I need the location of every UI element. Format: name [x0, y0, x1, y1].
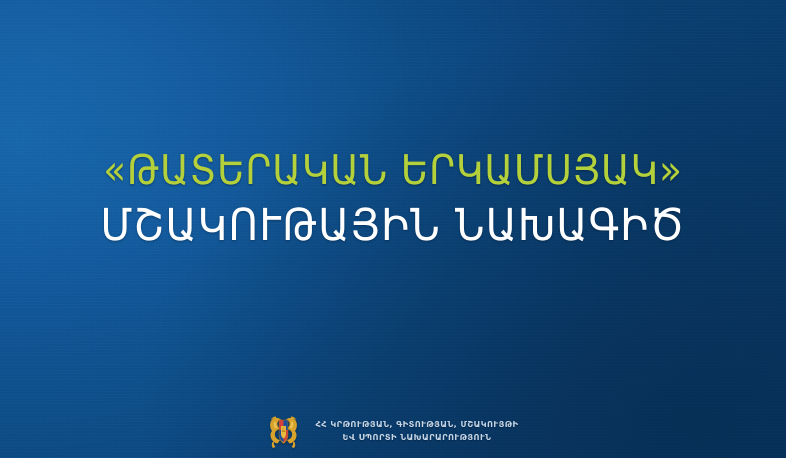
slide-title-block: «ԹԱՏԵՐԱԿԱՆ ԵՐԿԱՄՍՅԱԿ» ՄՇԱԿՈՒԹԱՅԻՆ ՆԱԽԱԳԻ… — [0, 150, 786, 248]
slide-title-line-2: ՄՇԱԿՈՒԹԱՅԻՆ ՆԱԽԱԳԻԾ — [0, 204, 786, 248]
ministry-footer-lockup: ՀՀ ԿՐԹՈՒԹՅԱՆ, ԳԻՏՈՒԹՅԱՆ, ՄՇԱԿՈՒՅԹԻ ԵՎ ՍՊ… — [0, 412, 786, 450]
slide-title-line-1: «ԹԱՏԵՐԱԿԱՆ ԵՐԿԱՄՍՅԱԿ» — [0, 150, 786, 191]
presentation-slide: «ԹԱՏԵՐԱԿԱՆ ԵՐԿԱՄՍՅԱԿ» ՄՇԱԿՈՒԹԱՅԻՆ ՆԱԽԱԳԻ… — [0, 0, 786, 458]
ministry-name-line-1: ՀՀ ԿՐԹՈՒԹՅԱՆ, ԳԻՏՈՒԹՅԱՆ, ՄՇԱԿՈՒՅԹԻ — [316, 419, 519, 430]
ministry-name-line-2: ԵՎ ՍՊՈՐՏԻ ՆԱԽԱՐԱՐՈՒԹՅՈՒՆ — [343, 432, 492, 443]
coat-of-arms-of-armenia-icon — [268, 412, 299, 450]
ministry-name: ՀՀ ԿՐԹՈՒԹՅԱՆ, ԳԻՏՈՒԹՅԱՆ, ՄՇԱԿՈՒՅԹԻ ԵՎ ՍՊ… — [316, 419, 519, 443]
